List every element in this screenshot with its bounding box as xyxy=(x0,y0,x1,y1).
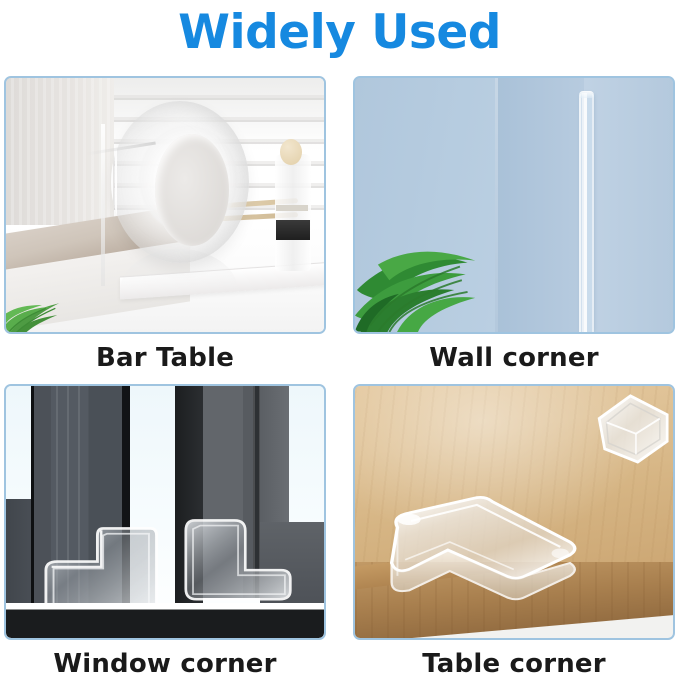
panel-bar-table: Bar Table xyxy=(4,76,326,334)
panel-window-corner: Window corner xyxy=(4,384,326,640)
potted-plant xyxy=(355,200,489,332)
window-frame-far-right xyxy=(260,384,289,527)
bottle-label xyxy=(276,220,310,240)
wall-middle-face xyxy=(495,78,584,332)
corner-guard-top-cap xyxy=(579,91,594,98)
panel-image-window-corner xyxy=(4,384,326,640)
panel-grid: Bar Table xyxy=(0,72,679,676)
panel-caption: Table corner xyxy=(353,649,675,679)
bottle-cap xyxy=(280,139,302,165)
bottle-label-band xyxy=(276,205,308,211)
bottle xyxy=(275,154,311,271)
wall-right-face xyxy=(584,78,673,332)
panel-table-corner: Table corner xyxy=(353,384,675,640)
panel-image-table-corner xyxy=(353,384,675,640)
tape-roll-core xyxy=(155,134,229,246)
panel-image-wall-corner xyxy=(353,76,675,334)
spare-corner-protector xyxy=(590,394,673,470)
corner-guard-seam xyxy=(582,93,584,332)
wall-corner-edge xyxy=(495,78,498,332)
tape-strip xyxy=(101,124,105,287)
page-title: Widely Used xyxy=(0,0,679,63)
potted-plant xyxy=(4,266,76,334)
panel-image-bar-table xyxy=(4,76,326,334)
panel-caption: Window corner xyxy=(4,649,326,679)
corner-protector-right xyxy=(184,517,292,603)
floor-baseboard xyxy=(6,603,324,638)
panel-caption: Wall corner xyxy=(353,343,675,373)
panel-wall-corner: Wall corner xyxy=(353,76,675,334)
corner-protector xyxy=(380,492,584,613)
panel-caption: Bar Table xyxy=(4,343,326,373)
